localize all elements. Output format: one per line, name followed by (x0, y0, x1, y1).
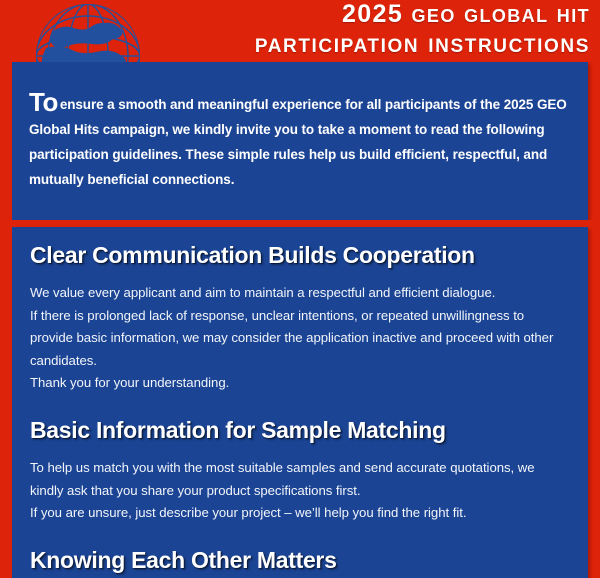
intro-body-text: ensure a smooth and meaningful experienc… (29, 97, 567, 187)
body-line: If there is prolonged lack of response, … (30, 305, 570, 373)
intro-panel: Toensure a smooth and meaningful experie… (12, 62, 588, 220)
header-title-group: 2025 GEO Global Hit Participation Instru… (0, 2, 590, 57)
body-line: Thank you for your understanding. (30, 372, 570, 395)
section-body: To help us match you with the most suita… (30, 457, 570, 525)
section-clear-communication: Clear Communication Builds Cooperation W… (30, 242, 570, 395)
section-heading: Knowing Each Other Matters (30, 547, 570, 573)
section-basic-information: Basic Information for Sample Matching To… (30, 417, 570, 525)
section-knowing-each-other: Knowing Each Other Matters (30, 547, 570, 578)
poster-header: 2025 GEO Global Hit Participation Instru… (0, 0, 600, 62)
poster-title-line-1: 2025 GEO Global Hit (0, 2, 590, 27)
intro-dropcap: To (29, 87, 60, 117)
body-line: To help us match you with the most suita… (30, 457, 570, 502)
section-body: We value every applicant and aim to main… (30, 282, 570, 395)
intro-paragraph: Toensure a smooth and meaningful experie… (29, 89, 571, 192)
body-line: If you are unsure, just describe your pr… (30, 502, 570, 525)
poster-root: 2025 GEO Global Hit Participation Instru… (0, 0, 600, 578)
panel-divider (0, 220, 600, 227)
section-heading: Basic Information for Sample Matching (30, 417, 570, 443)
main-content-panel: Clear Communication Builds Cooperation W… (12, 227, 588, 578)
body-line: We value every applicant and aim to main… (30, 282, 570, 305)
poster-title-line-2: Participation Instructions (0, 30, 590, 57)
section-heading: Clear Communication Builds Cooperation (30, 242, 570, 268)
